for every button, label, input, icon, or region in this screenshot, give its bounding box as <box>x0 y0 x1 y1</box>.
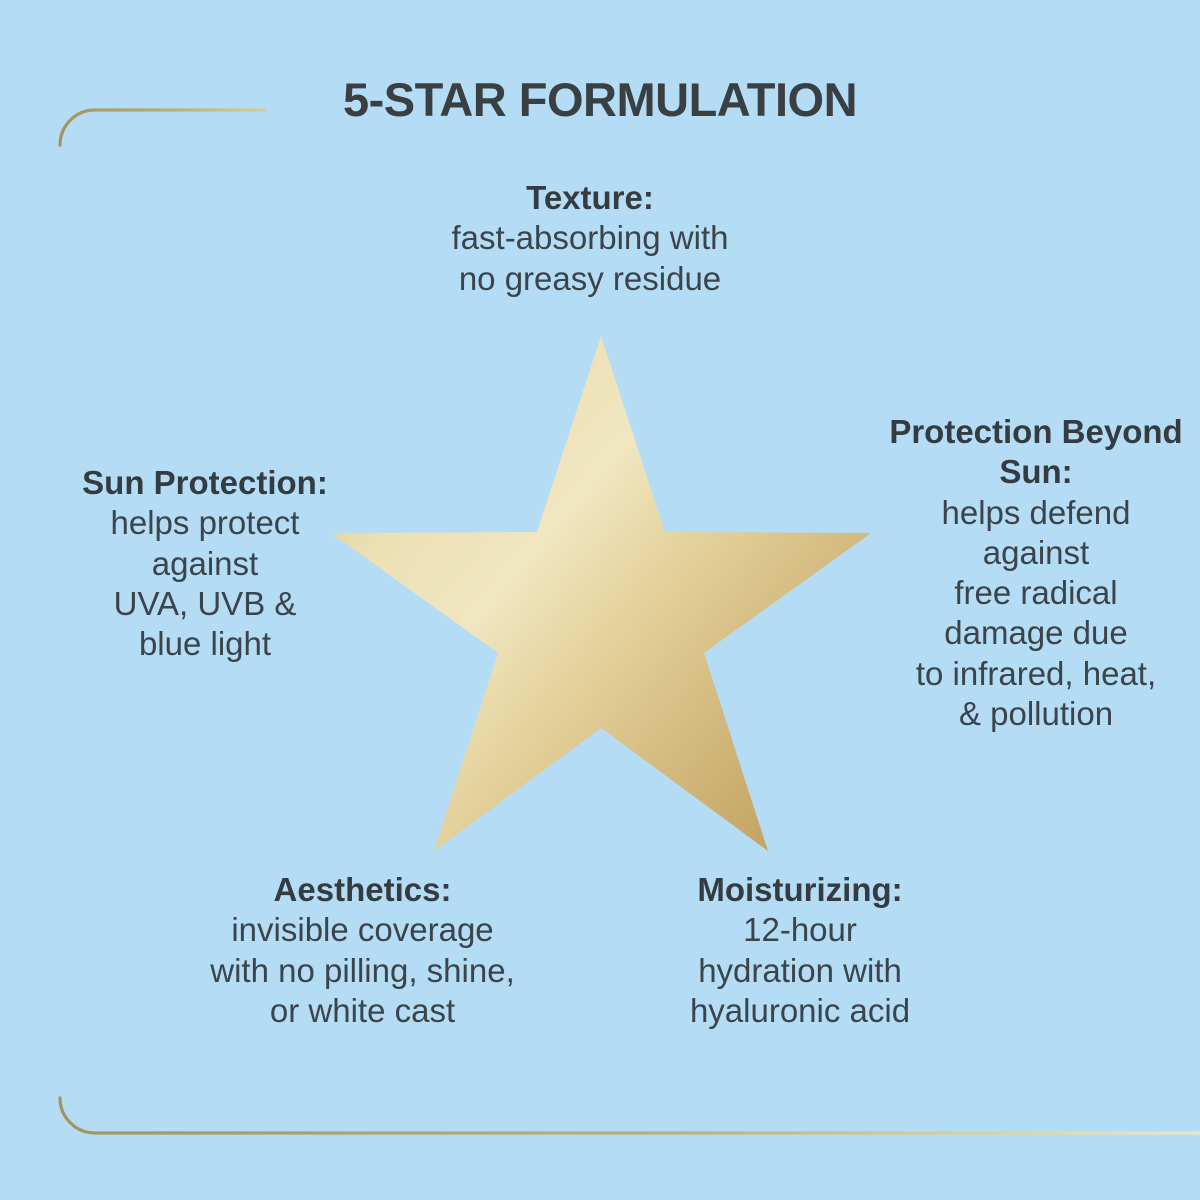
feature-protection-beyond-sun: Protection Beyond Sun: helps defend agai… <box>872 412 1200 734</box>
feature-texture-line-2: no greasy residue <box>340 259 840 299</box>
feature-protection-beyond-sun-title-line-1: Protection <box>889 413 1052 450</box>
feature-sun-protection-title: Sun Protection: <box>40 463 370 503</box>
feature-moisturizing-line-1: 12-hour <box>610 910 990 950</box>
feature-moisturizing-body: 12-hour hydration with hyaluronic acid <box>610 910 990 1031</box>
feature-moisturizing-title: Moisturizing: <box>610 870 990 910</box>
feature-protection-beyond-sun-line-2: against <box>872 533 1200 573</box>
feature-aesthetics-body: invisible coverage with no pilling, shin… <box>135 910 590 1031</box>
feature-protection-beyond-sun-line-6: & pollution <box>872 694 1200 734</box>
feature-protection-beyond-sun-line-1: helps defend <box>872 493 1200 533</box>
feature-moisturizing-line-2: hydration with <box>610 951 990 991</box>
feature-protection-beyond-sun-title: Protection Beyond Sun: <box>872 412 1200 493</box>
feature-aesthetics: Aesthetics: invisible coverage with no p… <box>135 870 590 1031</box>
feature-moisturizing-line-3: hyaluronic acid <box>610 991 990 1031</box>
feature-sun-protection-title-line-2: Protection: <box>154 464 328 501</box>
feature-sun-protection-line-2: against <box>40 544 370 584</box>
feature-sun-protection-line-4: blue light <box>40 624 370 664</box>
feature-texture: Texture: fast-absorbing with no greasy r… <box>340 178 840 299</box>
feature-texture-title: Texture: <box>340 178 840 218</box>
feature-aesthetics-line-3: or white cast <box>135 991 590 1031</box>
feature-sun-protection-title-line-1: Sun <box>82 464 144 501</box>
feature-aesthetics-line-1: invisible coverage <box>135 910 590 950</box>
page-title: 5-STAR FORMULATION <box>0 76 1200 123</box>
feature-protection-beyond-sun-line-4: damage due <box>872 613 1200 653</box>
feature-aesthetics-line-2: with no pilling, shine, <box>135 951 590 991</box>
feature-aesthetics-title: Aesthetics: <box>135 870 590 910</box>
feature-sun-protection-line-3: UVA, UVB & <box>40 584 370 624</box>
feature-protection-beyond-sun-line-3: free radical <box>872 573 1200 613</box>
five-pointed-star-icon <box>330 330 875 870</box>
infographic-canvas: 5-STAR FORMULATION Texture: fast-absorbi… <box>0 0 1200 1200</box>
feature-sun-protection-line-1: helps protect <box>40 503 370 543</box>
feature-sun-protection: Sun Protection: helps protect against UV… <box>40 463 370 664</box>
feature-sun-protection-body: helps protect against UVA, UVB & blue li… <box>40 503 370 664</box>
feature-protection-beyond-sun-line-5: to infrared, heat, <box>872 654 1200 694</box>
feature-moisturizing: Moisturizing: 12-hour hydration with hya… <box>610 870 990 1031</box>
feature-texture-body: fast-absorbing with no greasy residue <box>340 218 840 299</box>
feature-protection-beyond-sun-body: helps defend against free radical damage… <box>872 493 1200 735</box>
feature-texture-line-1: fast-absorbing with <box>340 218 840 258</box>
